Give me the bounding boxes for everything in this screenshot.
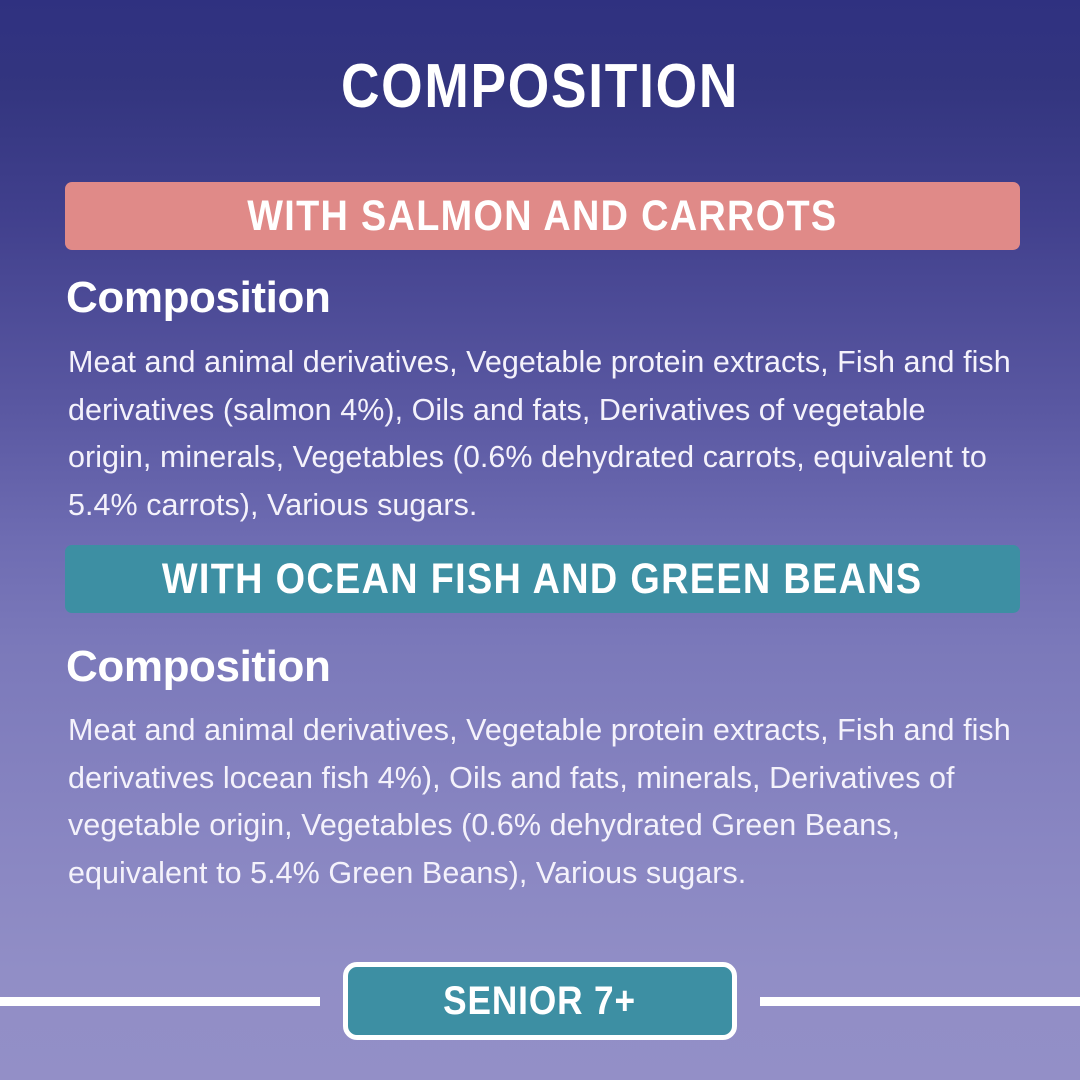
composition-card: COMPOSITION WITH SALMON AND CARROTS Comp… xyxy=(0,0,1080,1080)
page-title: COMPOSITION xyxy=(76,52,1005,122)
life-stage-badge: SENIOR 7+ xyxy=(343,962,737,1040)
section-body-ocean: Meat and animal derivatives, Vegetable p… xyxy=(68,707,1013,897)
section-heading-ocean: Composition xyxy=(66,641,330,693)
section-heading-salmon: Composition xyxy=(66,272,330,324)
life-stage-badge-label: SENIOR 7+ xyxy=(444,979,637,1023)
footer-rule-right xyxy=(760,997,1080,1006)
section-body-salmon: Meat and animal derivatives, Vegetable p… xyxy=(68,339,1013,529)
section-banner-label: WITH SALMON AND CARROTS xyxy=(247,192,837,240)
section-banner-label: WITH OCEAN FISH AND GREEN BEANS xyxy=(162,555,923,603)
footer-rule-left xyxy=(0,997,320,1006)
section-banner-ocean: WITH OCEAN FISH AND GREEN BEANS xyxy=(65,545,1020,613)
section-banner-salmon: WITH SALMON AND CARROTS xyxy=(65,182,1020,250)
